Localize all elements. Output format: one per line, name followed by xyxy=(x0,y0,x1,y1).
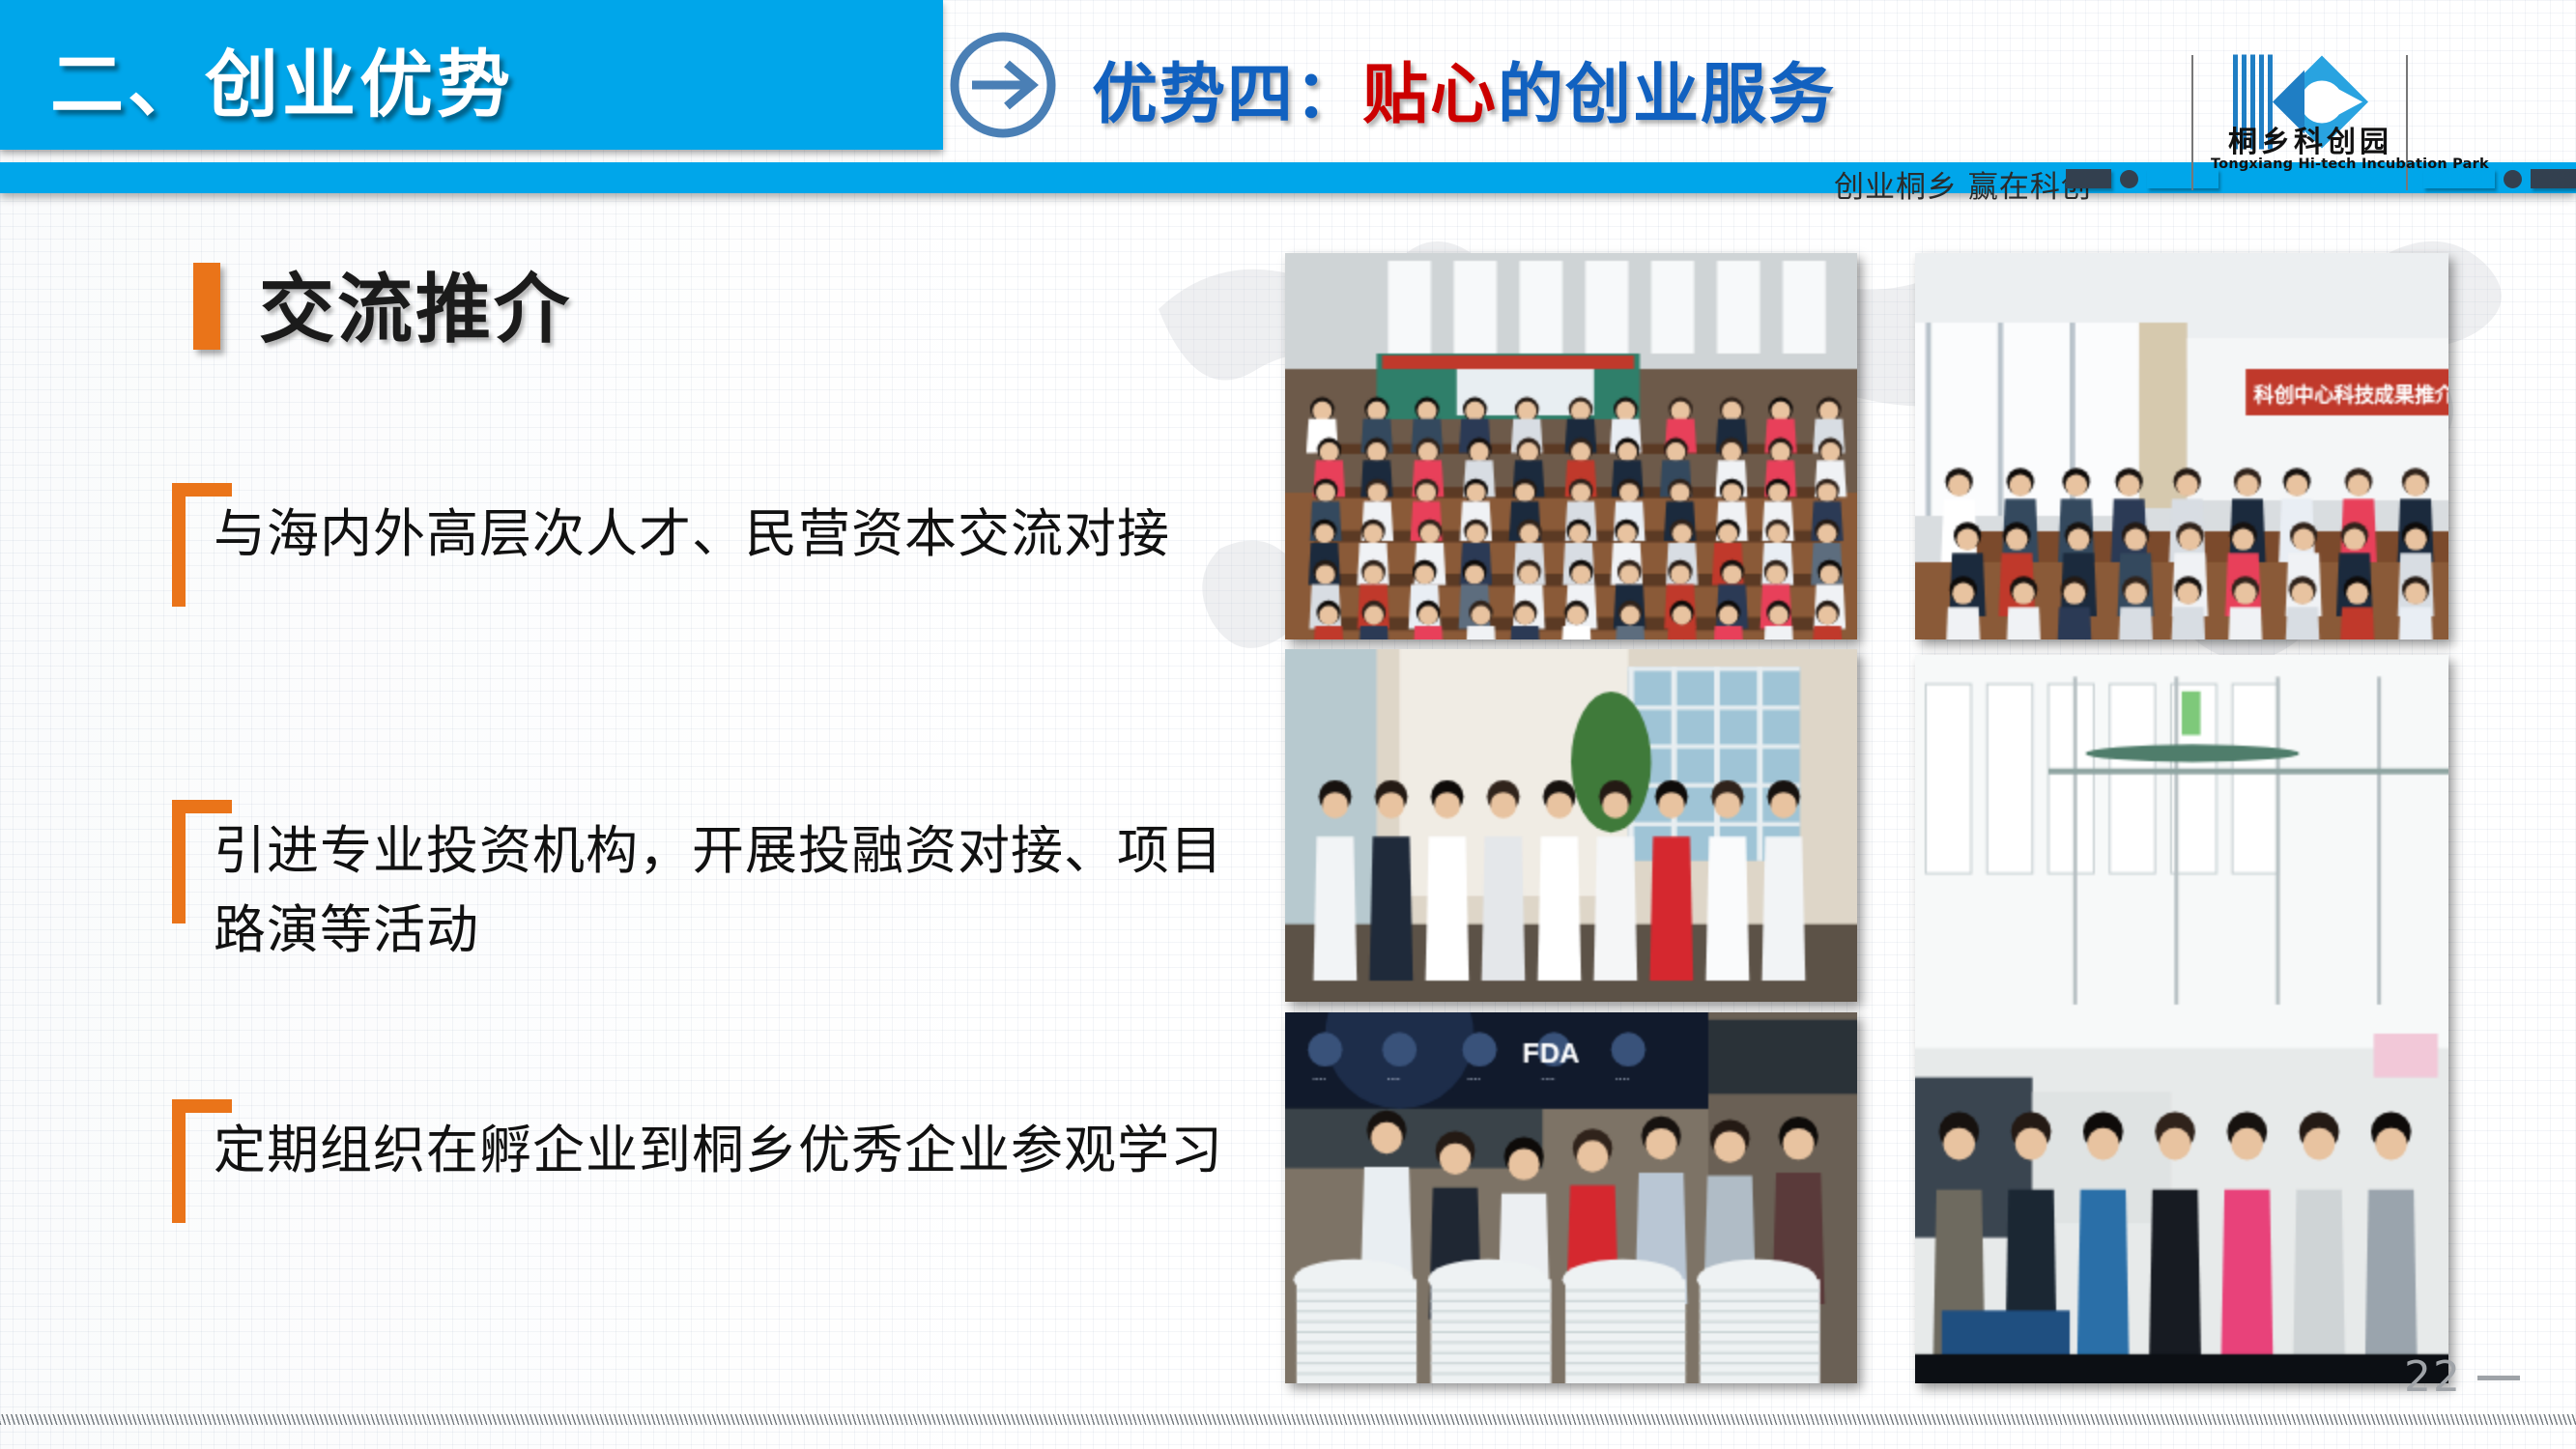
conference-hall-photo xyxy=(1285,253,1857,639)
bullet-text-3: 定期组织在孵企业到桐乡优秀企业参观学习 xyxy=(214,1111,1267,1190)
dash-blue xyxy=(2147,169,2218,188)
dash-dark xyxy=(2531,169,2576,188)
dash-blue xyxy=(2423,169,2495,188)
factory-floor-visit-photo xyxy=(1915,655,2448,1383)
advantage-title: 优势四：贴心的创业服务 xyxy=(1092,41,1836,136)
logo-name-en: Tongxiang Hi-tech Incubation Park xyxy=(2211,156,2410,172)
product-inspection-photo xyxy=(1285,1012,1857,1383)
page-number-dash xyxy=(2477,1376,2520,1380)
dash-dark xyxy=(2066,169,2111,188)
advantage-prefix: 优势四： xyxy=(1092,57,1362,133)
advantage-suffix: 的创业服务 xyxy=(1498,57,1836,133)
decorative-dashes-right xyxy=(2423,169,2576,188)
bullet-text-2: 引进专业投资机构，开展投融资对接、项目路演等活动 xyxy=(214,811,1267,970)
dash-dot xyxy=(2120,170,2138,188)
slide-canvas: 二、创业优势 优势四：贴心的创业服务 创业桐乡 赢在科创 桐乡科创园 Tongx… xyxy=(0,0,2576,1449)
meeting-room-banner-photo xyxy=(1915,253,2448,639)
lobby-tour-group-photo xyxy=(1285,649,1857,1002)
dash-dot xyxy=(2504,170,2522,188)
logo-separator-left xyxy=(2191,55,2193,190)
header-blue-underline-strip-left xyxy=(0,162,943,193)
footer-hatch-divider xyxy=(0,1414,2576,1425)
logo-name-cn: 桐乡科创园 xyxy=(2218,118,2402,160)
brand-tagline: 创业桐乡 赢在科创 xyxy=(1834,162,2092,206)
circle-arrow-right-icon xyxy=(945,27,1061,143)
section-title: 二、创业优势 xyxy=(50,25,514,131)
decorative-dashes-left xyxy=(2066,169,2218,188)
advantage-highlight: 贴心 xyxy=(1362,57,1498,133)
heading-accent-bar xyxy=(193,263,220,350)
bullet-text-1: 与海内外高层次人才、民营资本交流对接 xyxy=(214,495,1267,574)
page-number: 22 xyxy=(2404,1352,2462,1402)
content-heading: 交流推介 xyxy=(259,249,572,357)
